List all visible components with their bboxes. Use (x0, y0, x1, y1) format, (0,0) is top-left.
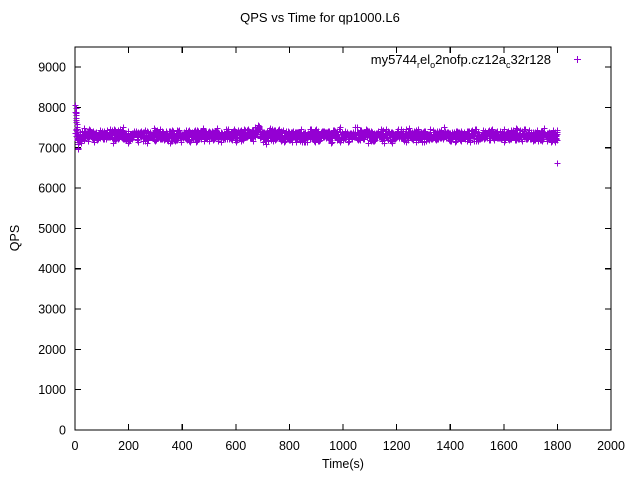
y-axis-label: QPS (8, 225, 22, 251)
legend-text-part: 2nofp.cz12a (435, 52, 507, 67)
y-tick-label: 7000 (38, 141, 66, 155)
x-axis-label: Time(s) (322, 457, 364, 471)
y-tick-label: 5000 (38, 222, 66, 236)
x-tick-label: 1400 (436, 439, 464, 453)
y-tick-label: 9000 (38, 61, 66, 75)
legend-text-part: el (420, 52, 430, 67)
legend-text-part: 32r128 (511, 52, 551, 67)
chart-title: QPS vs Time for qp1000.L6 (240, 10, 400, 25)
y-tick-label: 1000 (38, 383, 66, 397)
x-tick-label: 600 (225, 439, 246, 453)
x-tick-label: 1800 (543, 439, 571, 453)
x-tick-label: 1200 (383, 439, 411, 453)
x-tick-label: 800 (279, 439, 300, 453)
y-tick-label: 6000 (38, 182, 66, 196)
x-tick-label: 1600 (490, 439, 518, 453)
y-tick-label: 2000 (38, 343, 66, 357)
y-tick-label: 3000 (38, 303, 66, 317)
chart-container: QPS vs Time for qp1000.L6 01000200030004… (0, 0, 640, 480)
x-tick-label: 1000 (329, 439, 357, 453)
x-tick-label: 200 (118, 439, 139, 453)
y-tick-label: 4000 (38, 262, 66, 276)
y-tick-label: 0 (59, 424, 66, 438)
chart-background (0, 0, 640, 480)
x-tick-label: 2000 (597, 439, 625, 453)
legend-text-part: my5744 (371, 52, 417, 67)
x-tick-label: 0 (72, 439, 79, 453)
y-tick-label: 8000 (38, 101, 66, 115)
x-tick-label: 400 (172, 439, 193, 453)
chart-canvas: QPS vs Time for qp1000.L6 01000200030004… (0, 0, 640, 480)
